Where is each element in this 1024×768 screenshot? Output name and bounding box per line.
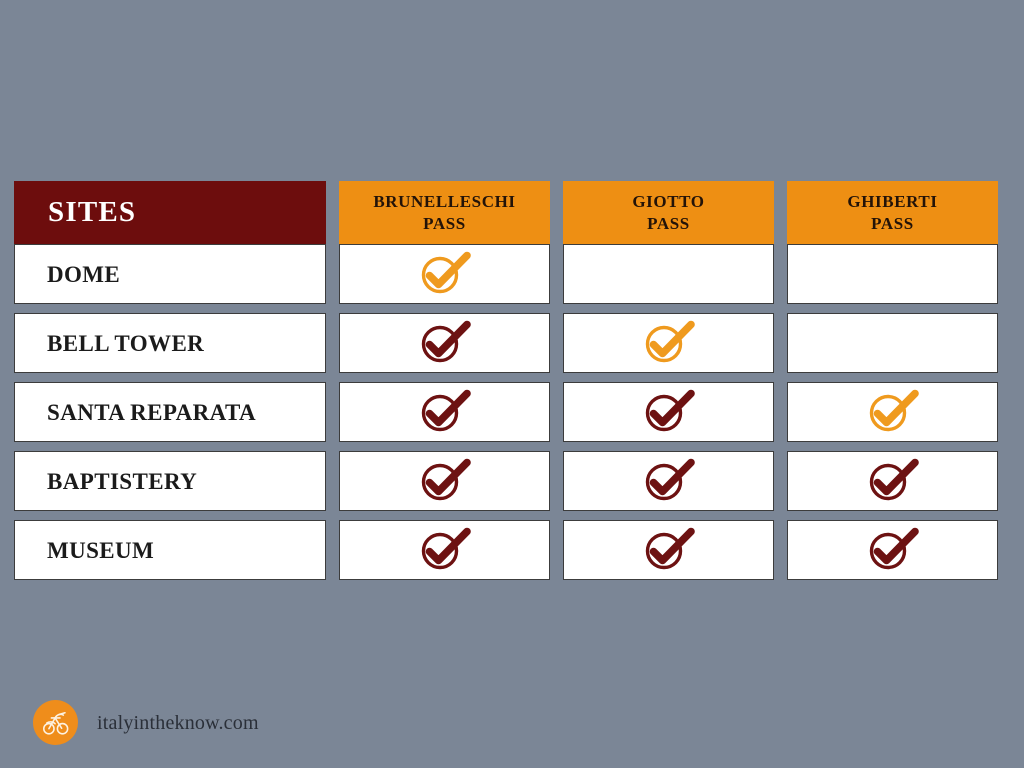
table-row: BAPTISTERY [14, 451, 998, 511]
check-circle-icon [865, 388, 921, 436]
table-row: MUSEUM [14, 520, 998, 580]
row-label-cell: SANTA REPARATA [14, 382, 326, 442]
header-label-giotto-pass: GIOTTO PASS [632, 191, 704, 234]
cell-ghiberti-pass [787, 244, 998, 304]
cell-brunelleschi-pass [339, 244, 550, 304]
page-title: SITES [48, 198, 136, 227]
cell-ghiberti-pass [787, 382, 998, 442]
check-circle-icon [641, 526, 697, 574]
check-circle-icon [641, 457, 697, 505]
site-name-label: BAPTISTERY [47, 470, 197, 493]
row-label-cell: MUSEUM [14, 520, 326, 580]
site-name-label: SANTA REPARATA [47, 401, 256, 424]
check-circle-icon [417, 250, 473, 298]
cell-brunelleschi-pass [339, 313, 550, 373]
cell-brunelleschi-pass [339, 382, 550, 442]
check-circle-icon [641, 319, 697, 367]
check-circle-icon [865, 457, 921, 505]
cell-ghiberti-pass [787, 451, 998, 511]
site-name-label: BELL TOWER [47, 332, 204, 355]
passes-comparison-table: SITES BRUNELLESCHI PASS GIOTTO PASS GHIB… [14, 181, 998, 580]
row-label-cell: DOME [14, 244, 326, 304]
cell-ghiberti-pass [787, 313, 998, 373]
scooter-icon [33, 700, 78, 745]
cell-giotto-pass [563, 313, 774, 373]
check-circle-icon [417, 319, 473, 367]
table-body: DOMEBELL TOWERSANTA REPARATABAPTISTERYMU… [14, 244, 998, 580]
header-cell-ghiberti-pass: GHIBERTI PASS [787, 181, 998, 244]
table-header-row: SITES BRUNELLESCHI PASS GIOTTO PASS GHIB… [14, 181, 998, 244]
cell-giotto-pass [563, 244, 774, 304]
table-row: DOME [14, 244, 998, 304]
header-cell-sites: SITES [14, 181, 326, 244]
table-row: SANTA REPARATA [14, 382, 998, 442]
header-cell-giotto-pass: GIOTTO PASS [563, 181, 774, 244]
row-label-cell: BAPTISTERY [14, 451, 326, 511]
check-circle-icon [641, 388, 697, 436]
cell-brunelleschi-pass [339, 451, 550, 511]
site-name-label: DOME [47, 263, 120, 286]
cell-giotto-pass [563, 451, 774, 511]
cell-giotto-pass [563, 382, 774, 442]
cell-ghiberti-pass [787, 520, 998, 580]
row-label-cell: BELL TOWER [14, 313, 326, 373]
footer-branding: italyintheknow.com [33, 700, 259, 745]
page-root: SITES BRUNELLESCHI PASS GIOTTO PASS GHIB… [0, 0, 1024, 768]
cell-brunelleschi-pass [339, 520, 550, 580]
check-circle-icon [865, 526, 921, 574]
check-circle-icon [417, 457, 473, 505]
site-name-label: MUSEUM [47, 539, 154, 562]
header-cell-brunelleschi-pass: BRUNELLESCHI PASS [339, 181, 550, 244]
check-circle-icon [417, 526, 473, 574]
site-url-label: italyintheknow.com [97, 713, 259, 733]
header-label-brunelleschi-pass: BRUNELLESCHI PASS [373, 191, 515, 234]
header-label-ghiberti-pass: GHIBERTI PASS [847, 191, 937, 234]
cell-giotto-pass [563, 520, 774, 580]
check-circle-icon [417, 388, 473, 436]
table-row: BELL TOWER [14, 313, 998, 373]
